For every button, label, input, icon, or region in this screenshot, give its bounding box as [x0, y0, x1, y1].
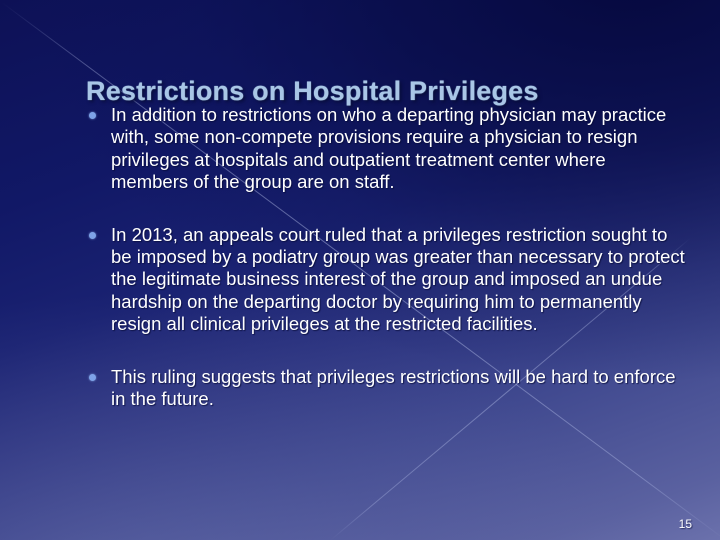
- bullet-dot-icon: [89, 112, 96, 119]
- page-number: 15: [679, 517, 692, 531]
- slide-title: Restrictions on Hospital Privileges: [86, 76, 686, 107]
- bullet-item: This ruling suggests that privileges res…: [86, 366, 686, 411]
- bullet-text: In 2013, an appeals court ruled that a p…: [111, 224, 685, 335]
- bullet-dot-icon: [89, 374, 96, 381]
- slide-canvas: Restrictions on Hospital Privileges In a…: [0, 0, 720, 540]
- bullet-text: This ruling suggests that privileges res…: [111, 366, 676, 409]
- bullet-item: In 2013, an appeals court ruled that a p…: [86, 224, 686, 336]
- bullet-text: In addition to restrictions on who a dep…: [111, 104, 666, 192]
- bullet-item: In addition to restrictions on who a dep…: [86, 104, 686, 194]
- bullet-dot-icon: [89, 232, 96, 239]
- bullet-list: In addition to restrictions on who a dep…: [86, 104, 686, 410]
